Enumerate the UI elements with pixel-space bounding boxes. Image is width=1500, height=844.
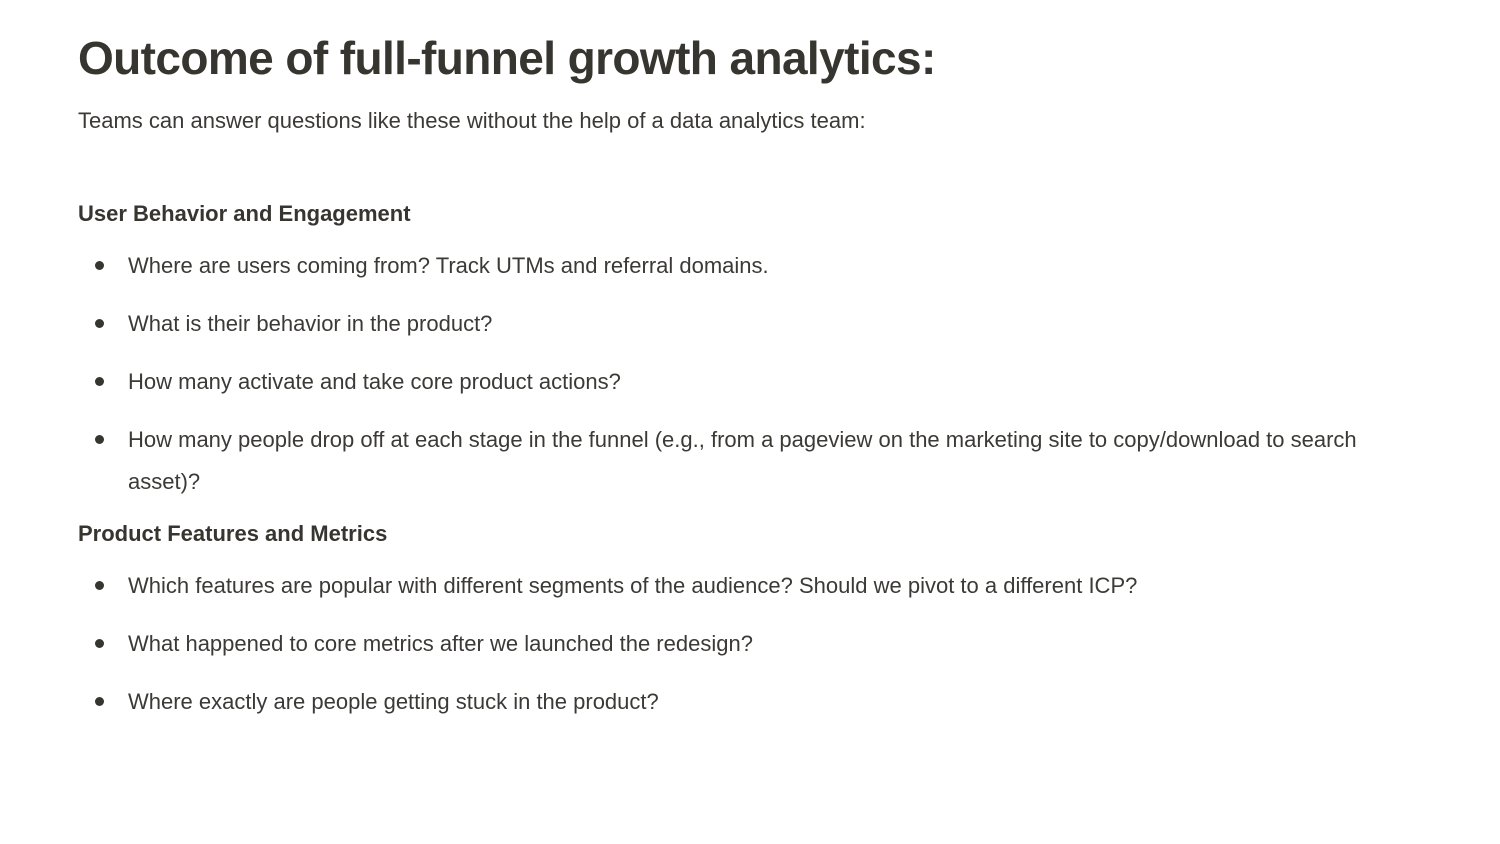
bullet-dot-icon xyxy=(95,319,104,328)
list-item: Where exactly are people getting stuck i… xyxy=(78,681,1360,723)
bullet-dot-icon xyxy=(95,435,104,444)
page-title: Outcome of full-funnel growth analytics: xyxy=(78,0,1440,86)
list-item-text: How many people drop off at each stage i… xyxy=(128,419,1360,503)
bullet-dot-icon xyxy=(95,581,104,590)
list-item-text: Which features are popular with differen… xyxy=(128,565,1360,607)
bullet-dot-icon xyxy=(95,697,104,706)
list-item-text: Where exactly are people getting stuck i… xyxy=(128,681,1360,723)
empty-block-spacer xyxy=(78,137,1440,199)
intro-paragraph: Teams can answer questions like these wi… xyxy=(78,86,1440,137)
content-section: User Behavior and EngagementWhere are us… xyxy=(78,199,1440,503)
list-item-text: What happened to core metrics after we l… xyxy=(128,623,1360,665)
list-item: Which features are popular with differen… xyxy=(78,565,1360,607)
sections-container: User Behavior and EngagementWhere are us… xyxy=(78,199,1440,723)
list-item: How many people drop off at each stage i… xyxy=(78,419,1360,503)
list-item-text: Where are users coming from? Track UTMs … xyxy=(128,245,1360,287)
bullet-list: Which features are popular with differen… xyxy=(78,565,1440,723)
bullet-list: Where are users coming from? Track UTMs … xyxy=(78,245,1440,503)
bullet-dot-icon xyxy=(95,261,104,270)
content-section: Product Features and MetricsWhich featur… xyxy=(78,519,1440,723)
list-item: Where are users coming from? Track UTMs … xyxy=(78,245,1360,287)
section-gap xyxy=(78,503,1440,519)
section-heading: User Behavior and Engagement xyxy=(78,199,1440,229)
list-item-text: What is their behavior in the product? xyxy=(128,303,1360,345)
bullet-dot-icon xyxy=(95,639,104,648)
document-page: Outcome of full-funnel growth analytics:… xyxy=(0,0,1500,844)
section-heading: Product Features and Metrics xyxy=(78,519,1440,549)
bullet-dot-icon xyxy=(95,377,104,386)
list-item-text: How many activate and take core product … xyxy=(128,361,1360,403)
list-item: What happened to core metrics after we l… xyxy=(78,623,1360,665)
list-item: How many activate and take core product … xyxy=(78,361,1360,403)
list-item: What is their behavior in the product? xyxy=(78,303,1360,345)
